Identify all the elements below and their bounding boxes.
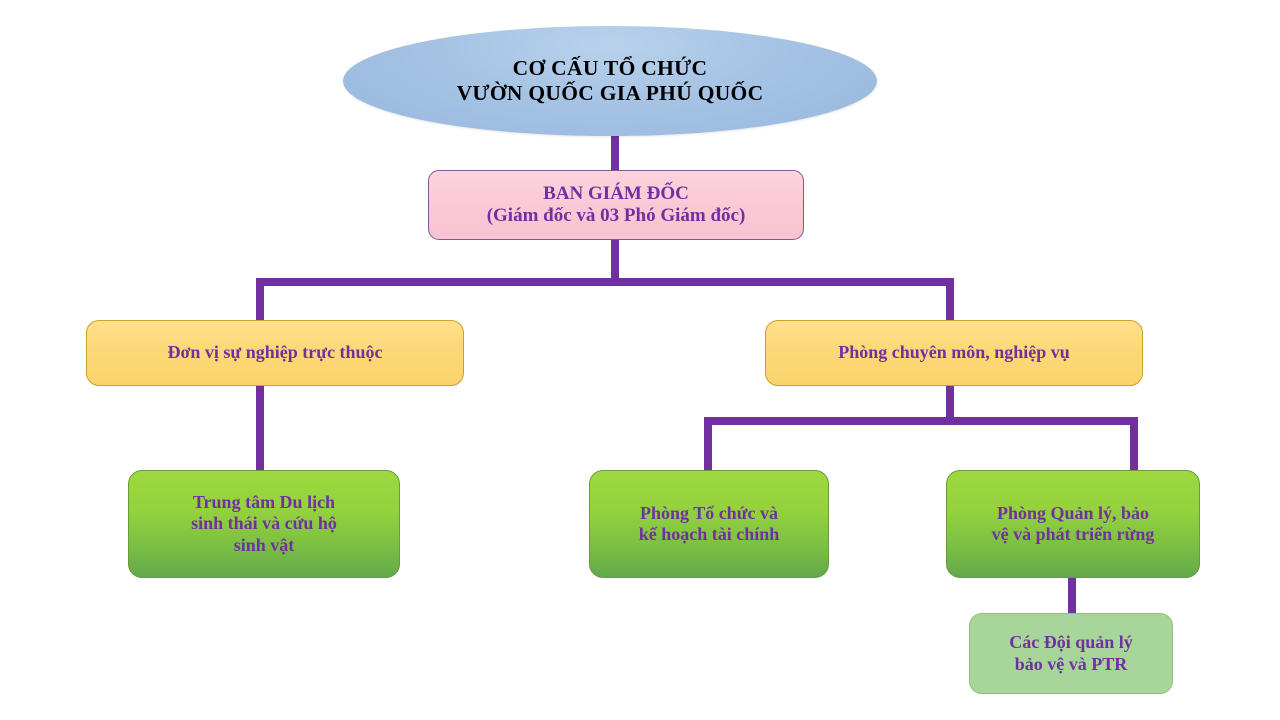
organization-and-finance-planning-department-node[interactable]: Phòng Tổ chức và kế hoạch tài chính xyxy=(589,470,829,578)
org-chart: CƠ CẤU TỔ CHỨC VƯỜN QUỐC GIA PHÚ QUỐC BA… xyxy=(0,0,1280,720)
ecotourism-and-wildlife-rescue-center-node[interactable]: Trung tâm Du lịch sinh thái và cứu hộ si… xyxy=(128,470,400,578)
connector-bus-level-2 xyxy=(704,417,1138,425)
specialized-professional-department-node[interactable]: Phòng chuyên môn, nghiệp vụ xyxy=(765,320,1143,386)
board-of-directors-node[interactable]: BAN GIÁM ĐỐC (Giám đốc và 03 Phó Giám đố… xyxy=(428,170,804,240)
affiliated-public-service-unit-node[interactable]: Đơn vị sự nghiệp trực thuộc xyxy=(86,320,464,386)
connector-directors-to-bus xyxy=(611,238,619,286)
connector-specialized-department-to-bus xyxy=(946,384,954,422)
organization-title-node: CƠ CẤU TỔ CHỨC VƯỜN QUỐC GIA PHÚ QUỐC xyxy=(343,26,877,136)
forest-management-protection-development-department-node[interactable]: Phòng Quản lý, bảo vệ và phát triển rừng xyxy=(946,470,1200,578)
connector-forest-department-to-teams xyxy=(1068,575,1076,617)
forest-protection-teams-node[interactable]: Các Đội quản lý bảo vệ và PTR xyxy=(969,613,1173,694)
connector-bus-to-affiliated-unit xyxy=(256,278,264,324)
connector-bus-to-specialized-department xyxy=(946,278,954,324)
connector-bus-to-forest-department xyxy=(1130,417,1138,474)
connector-affiliated-unit-to-center xyxy=(256,384,264,474)
connector-bus-to-finance-department xyxy=(704,417,712,474)
connector-bus-level-1 xyxy=(256,278,954,286)
